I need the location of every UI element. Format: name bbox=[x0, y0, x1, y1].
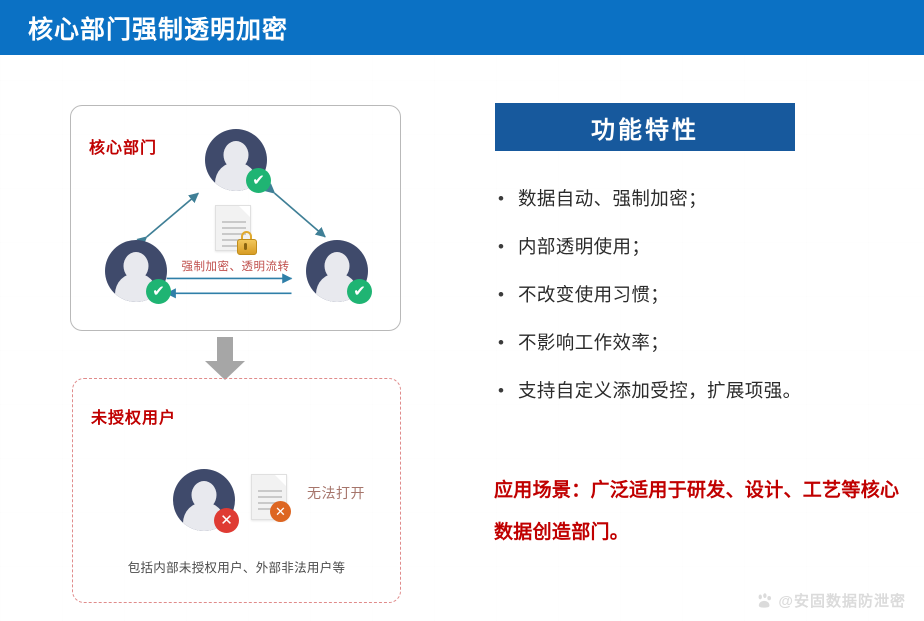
baidu-paw-icon bbox=[756, 592, 773, 609]
locked-document-icon bbox=[213, 203, 257, 255]
down-arrow-icon bbox=[204, 337, 246, 381]
slide-root: 核心部门强制透明加密 核心部门 bbox=[0, 0, 924, 621]
unauthorized-users-label: 未授权用户 bbox=[91, 404, 176, 428]
bullet-marker-icon: • bbox=[492, 379, 518, 403]
watermark-text: @安固数据防泄密 bbox=[778, 590, 906, 611]
padlock-keyhole bbox=[244, 243, 247, 250]
core-department-label: 核心部门 bbox=[89, 134, 157, 158]
bullet-text: 不改变使用习惯； bbox=[518, 283, 669, 307]
bullet-marker-icon: • bbox=[492, 283, 518, 307]
right-features-column: 功能特性 • 数据自动、强制加密； • 内部透明使用； • 不改变使用习惯； •… bbox=[470, 55, 924, 621]
document-fold-corner bbox=[275, 475, 286, 486]
list-item: • 不影响工作效率； bbox=[492, 331, 912, 357]
avatar-core-right: ✔ bbox=[306, 240, 368, 302]
bullet-text: 数据自动、强制加密； bbox=[518, 187, 707, 211]
unauthorized-caption: 包括内部未授权用户、外部非法用户等 bbox=[73, 557, 400, 576]
check-badge-icon: ✔ bbox=[146, 279, 171, 304]
unauthorized-users-card: 未授权用户 ✕ ✕ 无法打开 bbox=[72, 378, 401, 603]
cross-badge-icon: ✕ bbox=[270, 501, 291, 522]
feature-banner-text: 功能特性 bbox=[591, 110, 699, 145]
bullet-marker-icon: • bbox=[492, 187, 518, 211]
cannot-open-label: 无法打开 bbox=[307, 483, 365, 503]
check-badge-icon: ✔ bbox=[246, 168, 271, 193]
list-item: • 不改变使用习惯； bbox=[492, 283, 912, 309]
avatar-core-top: ✔ bbox=[205, 129, 267, 191]
feature-bullet-list: • 数据自动、强制加密； • 内部透明使用； • 不改变使用习惯； • 不影响工… bbox=[492, 187, 912, 427]
document-fold-corner bbox=[239, 206, 250, 217]
cross-badge-icon: ✕ bbox=[214, 508, 239, 533]
left-diagram-column: 核心部门 bbox=[0, 55, 470, 621]
corner-watermark: @安固数据防泄密 bbox=[756, 590, 906, 611]
bullet-text: 支持自定义添加受控，扩展项强。 bbox=[518, 379, 802, 403]
slide-header-bar: 核心部门强制透明加密 bbox=[0, 0, 924, 55]
list-item: • 内部透明使用； bbox=[492, 235, 912, 261]
blocked-document-icon: ✕ bbox=[249, 472, 291, 524]
list-item: • 数据自动、强制加密； bbox=[492, 187, 912, 213]
avatar-core-left: ✔ bbox=[105, 240, 167, 302]
bullet-text: 不影响工作效率； bbox=[518, 331, 669, 355]
feature-banner: 功能特性 bbox=[495, 103, 795, 151]
padlock-body bbox=[237, 239, 257, 255]
bullet-text: 内部透明使用； bbox=[518, 235, 650, 259]
page-title: 核心部门强制透明加密 bbox=[28, 10, 288, 46]
bullet-marker-icon: • bbox=[492, 331, 518, 355]
check-badge-icon: ✔ bbox=[347, 279, 372, 304]
core-department-card: 核心部门 bbox=[70, 105, 401, 331]
list-item: • 支持自定义添加受控，扩展项强。 bbox=[492, 379, 912, 405]
bullet-marker-icon: • bbox=[492, 235, 518, 259]
flow-description-label: 强制加密、透明流转 bbox=[182, 258, 290, 274]
application-scenario-text: 应用场景：广泛适用于研发、设计、工艺等核心数据创造部门。 bbox=[494, 470, 912, 554]
avatar-unauthorized: ✕ bbox=[173, 469, 235, 531]
